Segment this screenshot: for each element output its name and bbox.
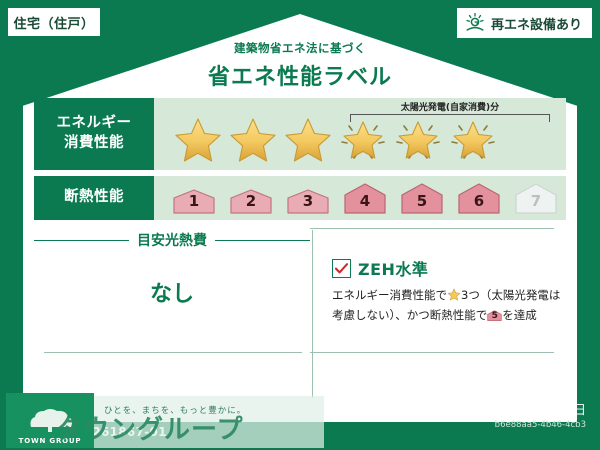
star-solar — [392, 113, 444, 163]
insulation-level-number: 1 — [168, 192, 220, 210]
insulation-level-7: 7 — [510, 182, 562, 214]
insulation-level-number: 3 — [282, 192, 334, 210]
energy-performance-stars-area: 太陽光発電(自家消費)分 — [154, 98, 566, 170]
cost-rule-left — [34, 240, 129, 241]
insulation-level-number: 7 — [510, 192, 562, 210]
energy-performance-label-box: エネルギー 消費性能 — [34, 98, 154, 170]
utility-cost-heading: 目安光熱費 — [34, 230, 310, 250]
insulation-label: 断熱性能 — [64, 188, 124, 208]
insulation-level-number: 6 — [453, 192, 505, 210]
self-evaluation-text: 自己評価 0261867-01 — [30, 423, 167, 440]
star-solar — [337, 113, 389, 163]
insulation-level-number: 2 — [225, 192, 277, 210]
zeh-heading: ZEH水準 — [332, 256, 566, 280]
check-icon — [335, 263, 348, 274]
star-filled — [172, 113, 224, 163]
insulation-level-number: 4 — [339, 192, 391, 210]
cost-rule-right — [215, 240, 310, 241]
energy-performance-row: エネルギー 消費性能 太陽光発電(自家消費)分 — [34, 98, 566, 170]
cost-bottom-rule — [44, 352, 302, 353]
renewable-equipment-badge: 再エネ設備あり — [457, 8, 592, 38]
insulation-level-scale: 1 2 3 — [154, 182, 562, 214]
star-filled — [227, 113, 279, 163]
utility-cost-section: 目安光熱費 なし — [34, 226, 310, 402]
zeh-desc-part1: エネルギー消費性能で — [332, 288, 447, 302]
energy-label-line2: 消費性能 — [64, 134, 124, 154]
inline-insulation-level-icon: 5 — [487, 309, 502, 324]
insulation-level-1: 1 — [168, 188, 220, 214]
star-rating — [154, 113, 499, 163]
zeh-desc-part3: を達成 — [502, 308, 537, 322]
star-filled — [282, 113, 334, 163]
label-content: エネルギー 消費性能 太陽光発電(自家消費)分 — [34, 98, 566, 408]
inline-level-number: 5 — [487, 310, 502, 324]
house-type-badge: 住宅（住戸） — [8, 8, 100, 36]
title-main: 省エネ性能ラベル — [0, 59, 600, 91]
utility-cost-label: 目安光熱費 — [137, 230, 207, 250]
renewable-badge-label: 再エネ設備あり — [491, 14, 582, 33]
insulation-level-number: 5 — [396, 192, 448, 210]
zeh-bottom-rule — [310, 352, 554, 353]
label-title: 建築物省エネ法に基づく 省エネ性能ラベル — [0, 40, 600, 91]
insulation-performance-row: 断熱性能 1 2 — [34, 176, 566, 220]
house-type-label: 住宅（住戸） — [13, 13, 94, 32]
title-subtitle: 建築物省エネ法に基づく — [0, 40, 600, 56]
insulation-level-6: 6 — [453, 182, 505, 214]
insulation-level-4: 4 — [339, 182, 391, 214]
insulation-performance-label-box: 断熱性能 — [34, 176, 154, 220]
sun-renewable-icon — [463, 11, 487, 35]
zeh-title: ZEH水準 — [358, 256, 428, 280]
insulation-level-5: 5 — [396, 182, 448, 214]
energy-label-line1: エネルギー — [57, 114, 132, 134]
solar-annotation-label: 太陽光発電(自家消費)分 — [350, 100, 550, 113]
insulation-levels-area: 1 2 3 — [154, 176, 566, 220]
evaluation-date-block: 評価日 2025年8月18日 b6e88aa5-4b46-4cb3 — [451, 399, 586, 430]
label-footer: 自己評価 0261867-01 評価日 2025年8月18日 b6e88aa5-… — [0, 404, 600, 450]
utility-cost-value: なし — [34, 276, 310, 308]
star-solar — [447, 113, 499, 163]
inline-star-icon — [447, 287, 461, 307]
zeh-description: エネルギー消費性能で3つ（太陽光発電は考慮しない）、かつ断熱性能で5を達成 — [332, 287, 566, 325]
energy-performance-label: 住宅（住戸） 再エネ設備あり 建築物省エネ法に基づく 省エネ性能ラベル — [0, 0, 600, 450]
zeh-desc-stars: 3つ（太陽光発電 — [461, 288, 549, 302]
insulation-level-2: 2 — [225, 188, 277, 214]
record-id: b6e88aa5-4b46-4cb3 — [451, 420, 586, 430]
insulation-level-3: 3 — [282, 188, 334, 214]
label-bottom-section: 目安光熱費 なし ZEH水準 エネルギー消費性能で3つ（太 — [34, 226, 566, 402]
evaluation-date-label: 評価日 — [451, 402, 489, 417]
zeh-checkbox[interactable] — [332, 259, 351, 278]
evaluation-date: 評価日 2025年8月18日 — [451, 399, 586, 418]
zeh-top-rule — [310, 228, 554, 229]
evaluation-date-value: 2025年8月18日 — [493, 402, 586, 417]
zeh-section: ZEH水準 エネルギー消費性能で3つ（太陽光発電は考慮しない）、かつ断熱性能で5… — [310, 226, 566, 402]
